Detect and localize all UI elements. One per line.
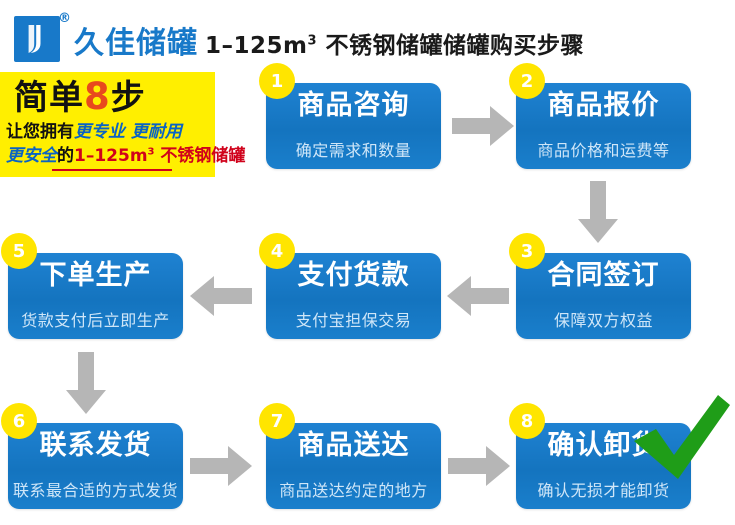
step-subtitle: 联系最合适的方式发货 (8, 483, 183, 500)
green-check-icon (630, 395, 730, 485)
promo-subline-1-plain: 让您拥有 (6, 122, 74, 142)
arrow-step7-to-step8 (448, 446, 510, 486)
step-title: 支付货款 (266, 262, 441, 290)
brand-logo: ® 久佳储罐 (14, 16, 198, 62)
step-badge-4: 4 (259, 233, 295, 269)
step-title: 联系发货 (8, 432, 183, 460)
step-title: 商品咨询 (266, 92, 441, 120)
promo-product-spec-prefix: 1–125m (74, 146, 148, 166)
step-badge-7: 7 (259, 403, 295, 439)
promo-subline-2-emphasis: 更安全 (6, 146, 57, 166)
step-badge-8: 8 (509, 403, 545, 439)
registered-mark: ® (58, 12, 71, 25)
step-subtitle: 商品价格和运费等 (516, 143, 691, 160)
promo-product-spec-superscript: 3 (148, 146, 155, 157)
promo-headline-text: 简单 (14, 78, 84, 118)
step-badge-2: 2 (509, 63, 545, 99)
arrow-step6-to-step7 (190, 446, 252, 486)
step-subtitle: 商品送达约定的地方 (266, 483, 441, 500)
step-card-1[interactable]: 商品咨询 确定需求和数量 (266, 83, 441, 169)
arrow-step3-to-step4 (447, 276, 509, 316)
purchase-steps-infographic: ® 久佳储罐 1–125m3 不锈钢储罐储罐购买步骤 简单8步 让您拥有更专业 … (0, 0, 735, 525)
step-card-2[interactable]: 商品报价 商品价格和运费等 (516, 83, 691, 169)
step-title: 合同签订 (516, 262, 691, 290)
arrow-step1-to-step2 (452, 106, 514, 146)
step-subtitle: 货款支付后立即生产 (8, 313, 183, 330)
promo-headline-suffix: 步 (111, 78, 146, 118)
step-subtitle: 支付宝担保交易 (266, 313, 441, 330)
promo-headline: 简单8步 (14, 74, 146, 120)
promo-subline-1-emphasis: 更专业 更耐用 (74, 122, 182, 142)
step-badge-6: 6 (1, 403, 37, 439)
step-title: 商品送达 (266, 432, 441, 460)
step-card-3[interactable]: 合同签订 保障双方权益 (516, 253, 691, 339)
step-badge-5: 5 (1, 233, 37, 269)
step-title: 下单生产 (8, 262, 183, 290)
arrow-step2-to-step3 (578, 181, 618, 243)
brand-name: 久佳储罐 (74, 29, 198, 59)
page-title-superscript: 3 (307, 33, 317, 48)
step-card-7[interactable]: 商品送达 商品送达约定的地方 (266, 423, 441, 509)
step-subtitle: 确认无损才能卸货 (516, 483, 691, 500)
step-badge-1: 1 (259, 63, 295, 99)
step-subtitle: 保障双方权益 (516, 313, 691, 330)
step-title: 商品报价 (516, 92, 691, 120)
step-badge-3: 3 (509, 233, 545, 269)
page-title-rest: 不锈钢储罐储罐购买步骤 (317, 33, 584, 59)
jiujia-j-logo-icon: ® (14, 16, 60, 62)
step-card-5[interactable]: 下单生产 货款支付后立即生产 (8, 253, 183, 339)
promo-product-spec: 1–125m3 不锈钢储罐 (74, 146, 245, 166)
step-card-4[interactable]: 支付货款 支付宝担保交易 (266, 253, 441, 339)
arrow-step5-to-step6 (66, 352, 106, 414)
promo-step-count: 8 (84, 75, 111, 118)
promo-product-spec-rest: 不锈钢储罐 (155, 146, 246, 166)
promo-underline (52, 169, 172, 171)
step-card-6[interactable]: 联系发货 联系最合适的方式发货 (8, 423, 183, 509)
promo-subline-1: 让您拥有更专业 更耐用 (6, 122, 182, 142)
promo-subline-2: 更安全的1–125m3 不锈钢储罐 (6, 146, 245, 166)
promo-subline-2-plain: 的 (57, 146, 74, 166)
page-title-prefix: 1–125m (205, 33, 307, 59)
step-subtitle: 确定需求和数量 (266, 143, 441, 160)
promo-banner: 简单8步 让您拥有更专业 更耐用 更安全的1–125m3 不锈钢储罐 (0, 72, 215, 177)
arrow-step4-to-step5 (190, 276, 252, 316)
page-title: 1–125m3 不锈钢储罐储罐购买步骤 (205, 26, 584, 60)
